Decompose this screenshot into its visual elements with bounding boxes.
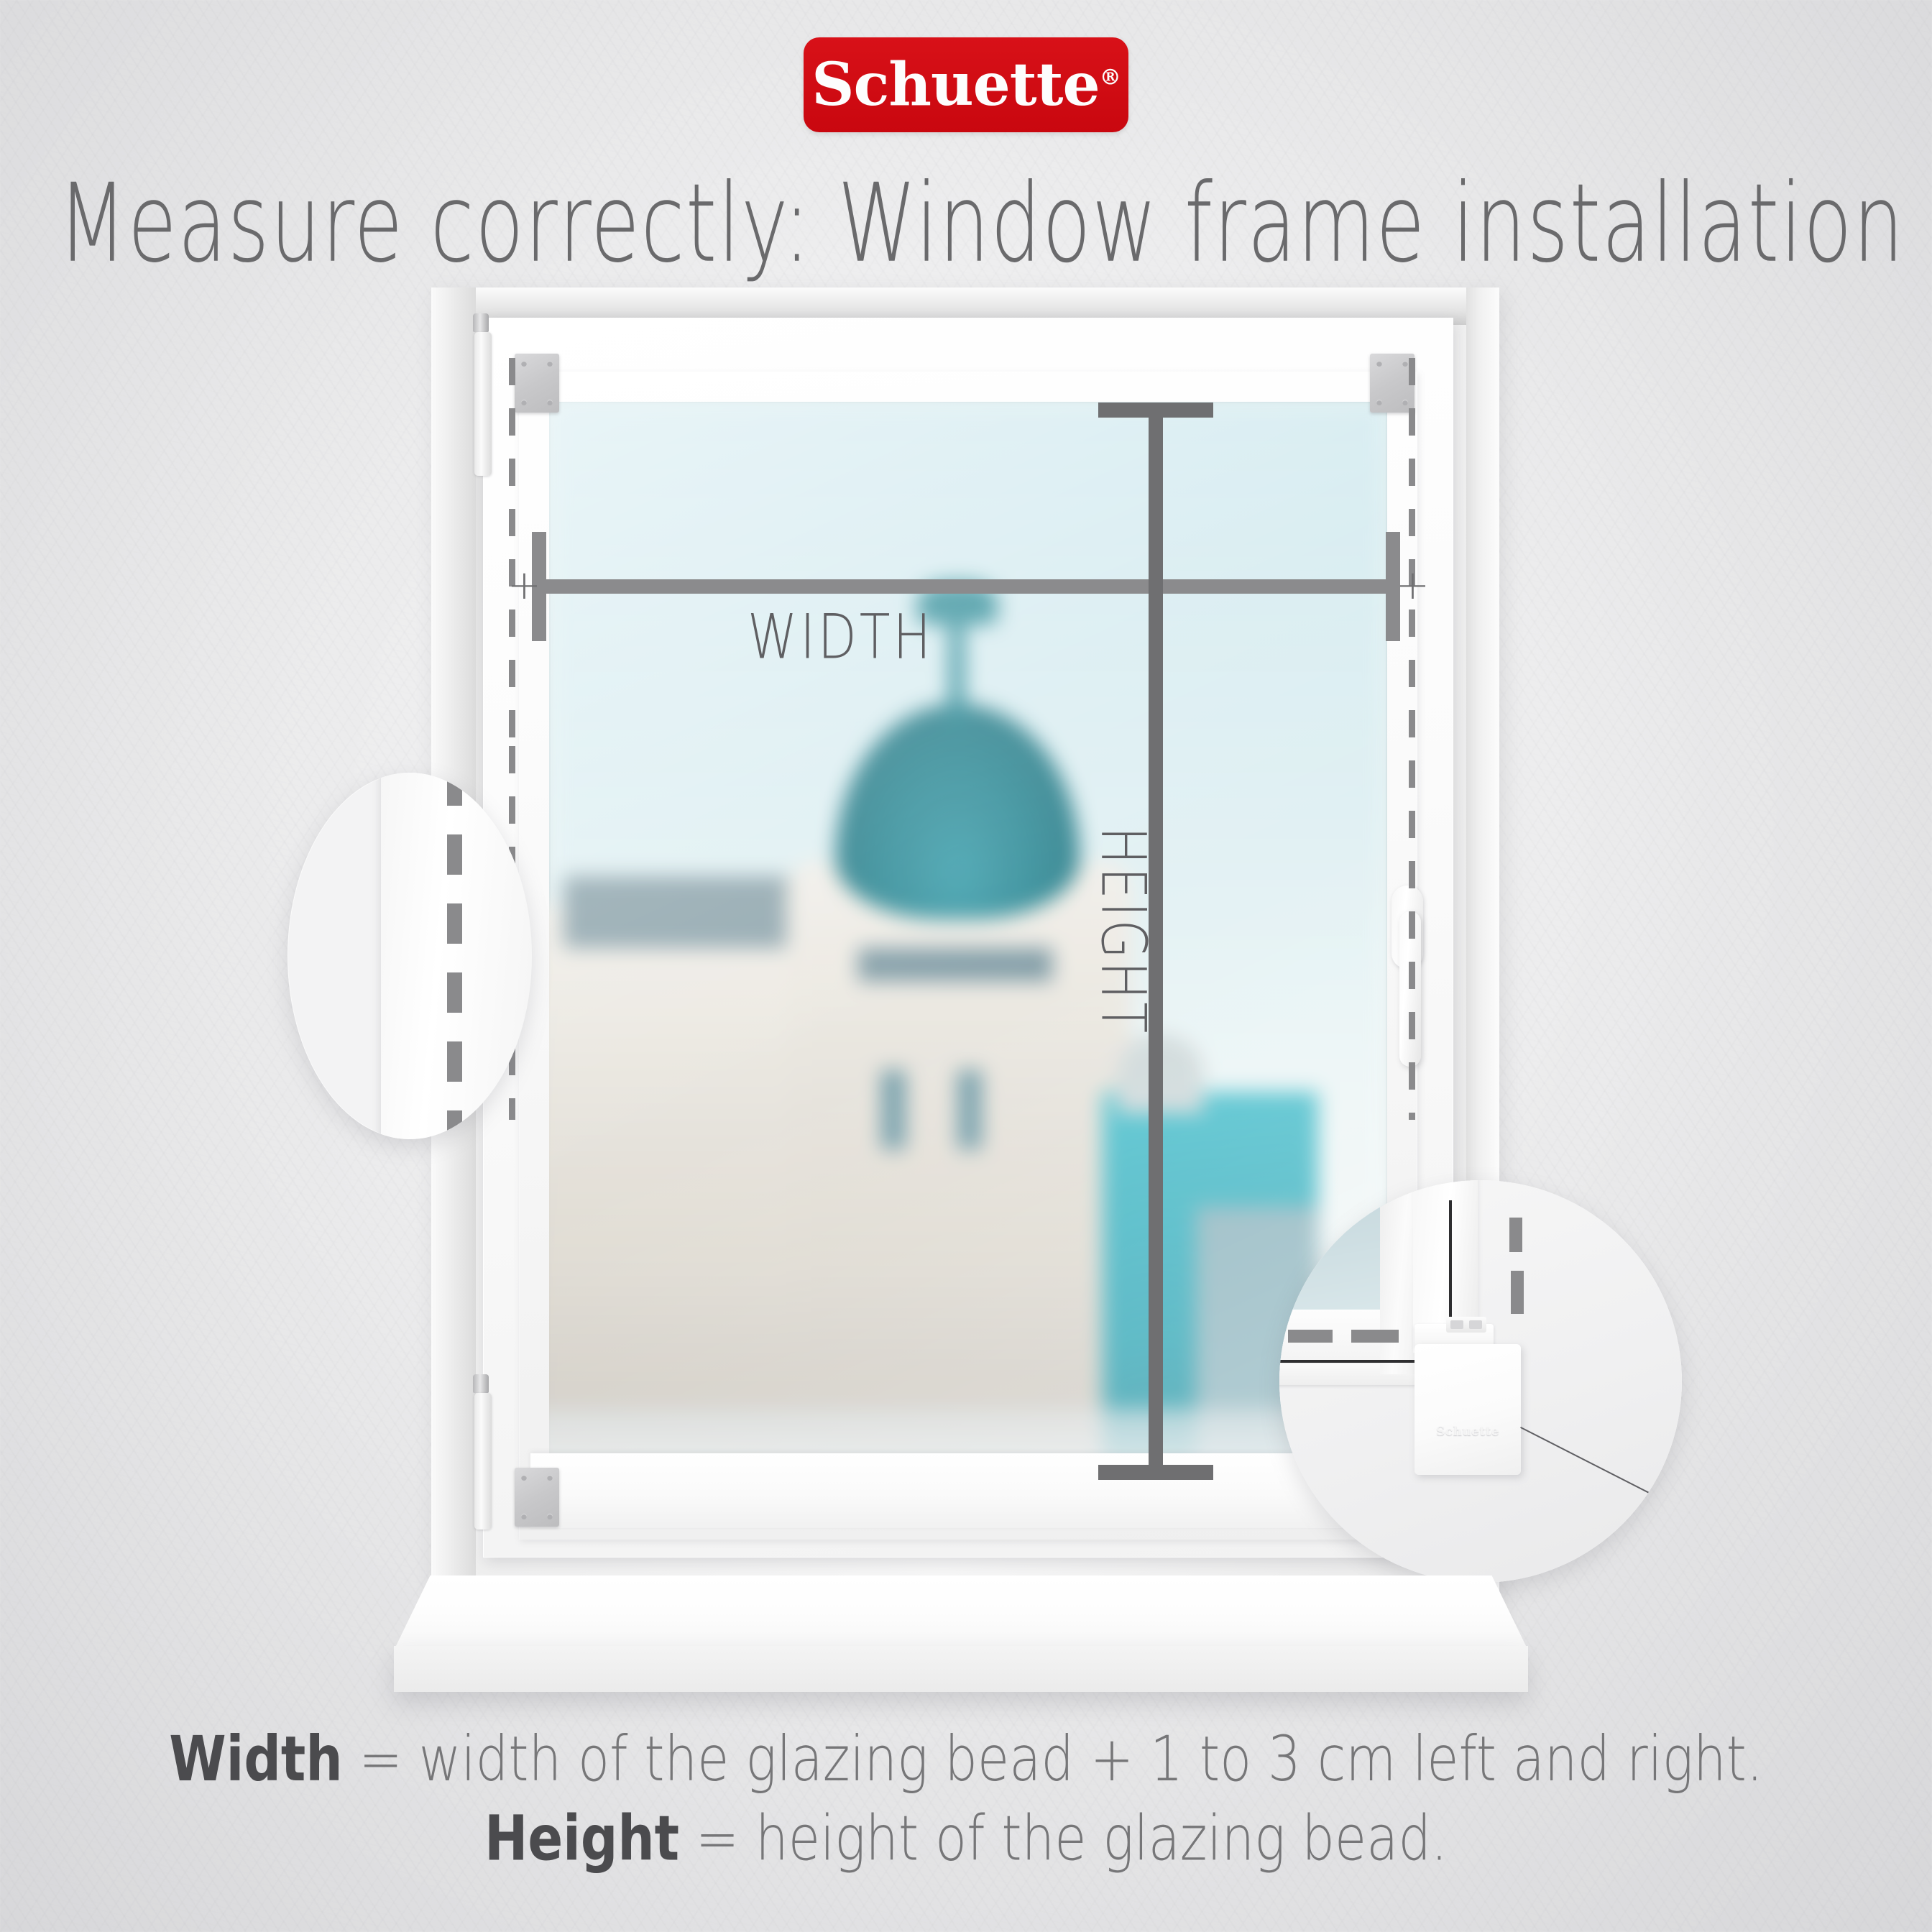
cassette-brand-label: Schuette xyxy=(1414,1425,1521,1439)
magnified-dash-line xyxy=(447,773,462,1139)
window-sill-front xyxy=(394,1646,1528,1692)
screw-hole xyxy=(547,400,553,405)
width-plus-right: + xyxy=(1396,566,1430,606)
width-label: WIDTH xyxy=(747,601,934,673)
brand-logo-text: Schuette® xyxy=(811,55,1120,114)
width-measure-bar xyxy=(532,579,1400,594)
clip-slot-left xyxy=(1450,1320,1463,1329)
magnified-dash-d xyxy=(1351,1330,1399,1343)
center-frieze xyxy=(858,948,1052,981)
screw-hole xyxy=(547,361,553,367)
caption-block: Width = width of the glazing bead + 1 to… xyxy=(0,1719,1932,1878)
magnifier-bracket-detail: Schuette xyxy=(1279,1180,1682,1583)
outside-view-image xyxy=(549,402,1387,1466)
screw-hole xyxy=(1402,361,1408,367)
screw-hole xyxy=(1376,400,1382,405)
window-glass xyxy=(549,402,1387,1466)
hinge-bottom-cap-icon xyxy=(473,1374,489,1393)
caption-height-text: = height of the glazing bead. xyxy=(679,1802,1448,1874)
caption-width-text: = width of the glazing bead + 1 to 3 cm … xyxy=(343,1723,1763,1795)
building-left-roof xyxy=(563,876,801,948)
magnified-reveal-line-vertical xyxy=(1449,1200,1452,1322)
hinge-top xyxy=(474,332,492,476)
clip-slot-right xyxy=(1469,1320,1482,1329)
magnifier-tolerance-detail: + 1-3cm xyxy=(287,773,532,1139)
magnified-reveal-line-horizontal xyxy=(1279,1360,1416,1363)
caption-line-height: Height = height of the glazing bead. xyxy=(0,1799,1932,1879)
sash-bottom-rail xyxy=(530,1453,1406,1528)
caption-line-width: Width = width of the glazing bead + 1 to… xyxy=(0,1719,1932,1799)
screw-hole xyxy=(521,1475,527,1481)
mounting-bracket-bottom-left xyxy=(515,1468,559,1527)
caption-width-term: Width xyxy=(169,1723,342,1795)
magnified-dash-b xyxy=(1511,1271,1524,1314)
guide-dash-right xyxy=(1409,358,1415,1120)
dome-spire xyxy=(949,617,965,725)
screw-hole xyxy=(547,1514,553,1519)
window-slot-b xyxy=(957,1070,982,1149)
brand-logo: Schuette® xyxy=(804,37,1128,132)
window-sill-top xyxy=(394,1575,1528,1650)
magnified-bracket-clip xyxy=(1446,1317,1486,1333)
tolerance-label: + 1-3cm xyxy=(517,773,532,866)
hinge-bottom xyxy=(474,1393,492,1529)
hinge-top-cap-icon xyxy=(473,313,489,332)
screw-hole xyxy=(1376,361,1382,367)
window-slot-a xyxy=(881,1070,906,1149)
screw-hole xyxy=(521,361,527,367)
infographic-canvas: Schuette® Measure correctly: Window fram… xyxy=(0,0,1932,1932)
screw-hole xyxy=(521,400,527,405)
magnified-blind-cassette: Schuette xyxy=(1414,1344,1521,1475)
screw-hole xyxy=(521,1514,527,1519)
screw-hole xyxy=(547,1475,553,1481)
page-title: Measure correctly: Window frame installa… xyxy=(58,160,1874,287)
screw-hole xyxy=(1402,400,1408,405)
guide-dash-left-upper xyxy=(509,358,515,746)
mounting-bracket-top-right xyxy=(1370,354,1414,413)
magnified-dash-a xyxy=(1509,1218,1522,1252)
registered-trademark-icon: ® xyxy=(1100,65,1121,91)
width-plus-left: + xyxy=(507,566,541,606)
magnified-dash-c xyxy=(1288,1330,1333,1343)
mounting-bracket-top-left xyxy=(515,354,559,413)
brand-name: Schuette xyxy=(811,50,1099,119)
height-label: HEIGHT xyxy=(1087,827,1159,1036)
caption-height-term: Height xyxy=(484,1802,679,1874)
